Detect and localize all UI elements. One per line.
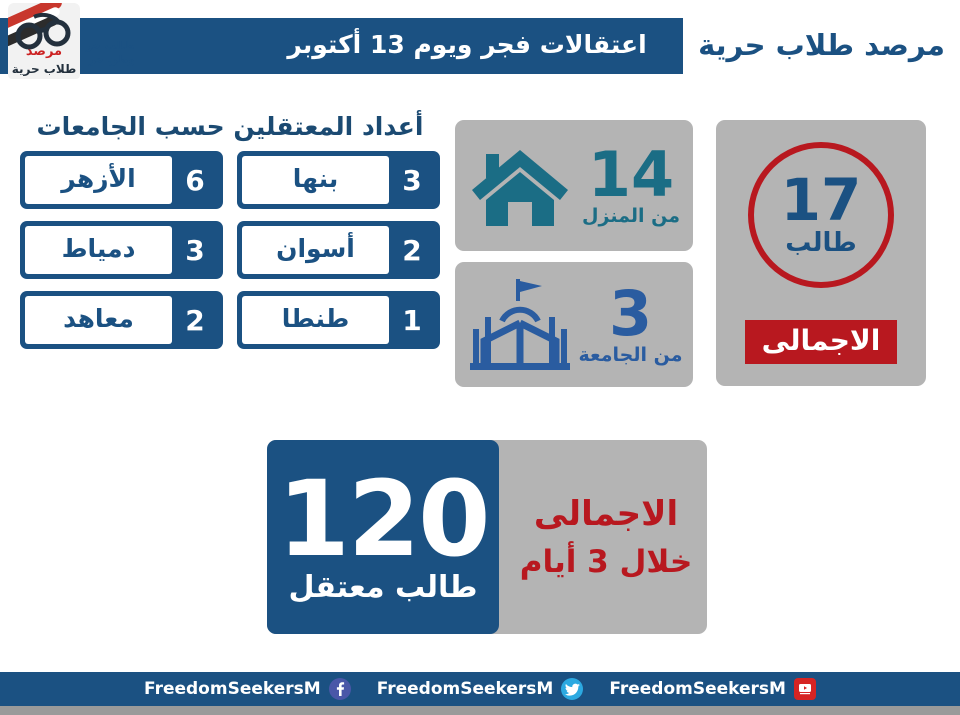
- university-row-aswan: 2 أسوان: [237, 221, 440, 279]
- grand-total-count: 120: [277, 473, 488, 567]
- logo-mark: مرصد طلاب حرية: [8, 3, 80, 79]
- university-name: دمياط: [62, 234, 136, 263]
- university-count: 1: [389, 304, 435, 337]
- youtube-handle[interactable]: FreedomSeekersM: [609, 679, 786, 699]
- facebook-handle[interactable]: FreedomSeekersM: [144, 679, 321, 699]
- university-name: أسوان: [276, 234, 355, 263]
- arrests-from-home-card: 14 من المنزل: [455, 120, 693, 251]
- university-row-banha: 3 بنها: [237, 151, 440, 209]
- daily-total-circle: 17 طالب: [748, 142, 894, 288]
- daily-total-badge: الاجمالى: [745, 320, 897, 364]
- university-count: 2: [172, 304, 218, 337]
- arrests-from-home-inner: 14 من المنزل: [455, 120, 693, 251]
- university-row-institutes: 2 معاهد: [20, 291, 223, 349]
- arrests-from-university-card: 3 من الجامعة: [455, 262, 693, 387]
- university-building-icon: [466, 277, 574, 373]
- header-brand-title-text: مرصد طلاب حرية: [698, 28, 945, 62]
- university-row-azhar: 6 الأزهر: [20, 151, 223, 209]
- daily-total-card: 17 طالب الاجمالى: [716, 120, 926, 386]
- university-name-box: معاهد: [25, 296, 172, 344]
- university-name: بنها: [293, 164, 338, 193]
- daily-total-count: 17: [781, 174, 862, 227]
- header-subtitle-text: اعتقالات فجر ويوم 13 أكتوبر: [287, 30, 646, 59]
- university-count: 6: [172, 164, 218, 197]
- daily-total-unit: طالب: [785, 232, 857, 256]
- arrests-from-home-stat: 14 من المنزل: [582, 146, 680, 225]
- header-brand-title: مرصد طلاب حرية: [683, 18, 960, 74]
- twitter-handle[interactable]: FreedomSeekersM: [377, 679, 554, 699]
- infographic-page: اعتقالات فجر ويوم 13 أكتوبر مرصد طلاب حر…: [0, 0, 960, 715]
- university-count: 2: [389, 234, 435, 267]
- university-name-box: الأزهر: [25, 156, 172, 204]
- university-count: 3: [389, 164, 435, 197]
- university-row-damietta: 3 دمياط: [20, 221, 223, 279]
- university-name: الأزهر: [61, 164, 135, 193]
- logo-tagline: طالب حر وطن حر: [86, 15, 135, 67]
- arrests-from-university-label: من الجامعة: [579, 346, 683, 364]
- university-name-box: دمياط: [25, 226, 172, 274]
- house-icon: [468, 140, 572, 232]
- universities-section: أعداد المعتقلين حسب الجامعات 3 بنها 6 ال…: [20, 112, 440, 349]
- twitter-icon[interactable]: [561, 678, 583, 700]
- university-row-tanta: 1 طنطا: [237, 291, 440, 349]
- header-subtitle: اعتقالات فجر ويوم 13 أكتوبر: [262, 18, 672, 74]
- social-account-facebook[interactable]: FreedomSeekersM: [144, 678, 351, 700]
- university-name-box: بنها: [242, 156, 389, 204]
- social-account-twitter[interactable]: FreedomSeekersM: [377, 678, 584, 700]
- arrests-from-home-count: 14: [588, 146, 674, 205]
- logo-word-tullab-horreya: طلاب حرية: [8, 62, 80, 76]
- grand-total-label-group: الاجمالى خلال 3 أيام: [505, 440, 707, 634]
- grand-total-box: 120 طالب معتقل: [267, 440, 499, 634]
- grand-total-label-line1: الاجمالى: [534, 494, 678, 534]
- logo: مرصد طلاب حرية طالب حر وطن حر: [8, 2, 183, 80]
- universities-grid: 3 بنها 6 الأزهر 2 أسوان 3 دم: [20, 151, 440, 349]
- universities-heading: أعداد المعتقلين حسب الجامعات: [20, 112, 440, 141]
- footer-bottom-strip: [0, 706, 960, 715]
- facebook-icon[interactable]: [329, 678, 351, 700]
- arrests-from-university-inner: 3 من الجامعة: [455, 262, 693, 387]
- social-account-youtube[interactable]: FreedomSeekersM: [609, 678, 816, 700]
- university-count: 3: [172, 234, 218, 267]
- arrests-from-home-label: من المنزل: [582, 207, 680, 225]
- university-name-box: أسوان: [242, 226, 389, 274]
- logo-word-mursad: مرصد: [8, 44, 80, 59]
- university-name-box: طنطا: [242, 296, 389, 344]
- arrests-from-university-count: 3: [609, 285, 652, 344]
- logo-tagline-line2: وطن حر: [89, 53, 135, 67]
- university-name: طنطا: [282, 304, 350, 333]
- logo-tagline-line1: طالب حر: [86, 39, 135, 53]
- daily-total-badge-text: الاجمالى: [762, 324, 881, 357]
- arrests-from-university-stat: 3 من الجامعة: [579, 285, 683, 364]
- footer-social-bar: FreedomSeekersM FreedomSeekersM FreedomS…: [0, 672, 960, 706]
- youtube-icon[interactable]: [794, 678, 816, 700]
- grand-total-label-line2: خلال 3 أيام: [520, 544, 693, 580]
- university-name: معاهد: [63, 304, 134, 333]
- grand-total-unit: طالب معتقل: [288, 574, 477, 601]
